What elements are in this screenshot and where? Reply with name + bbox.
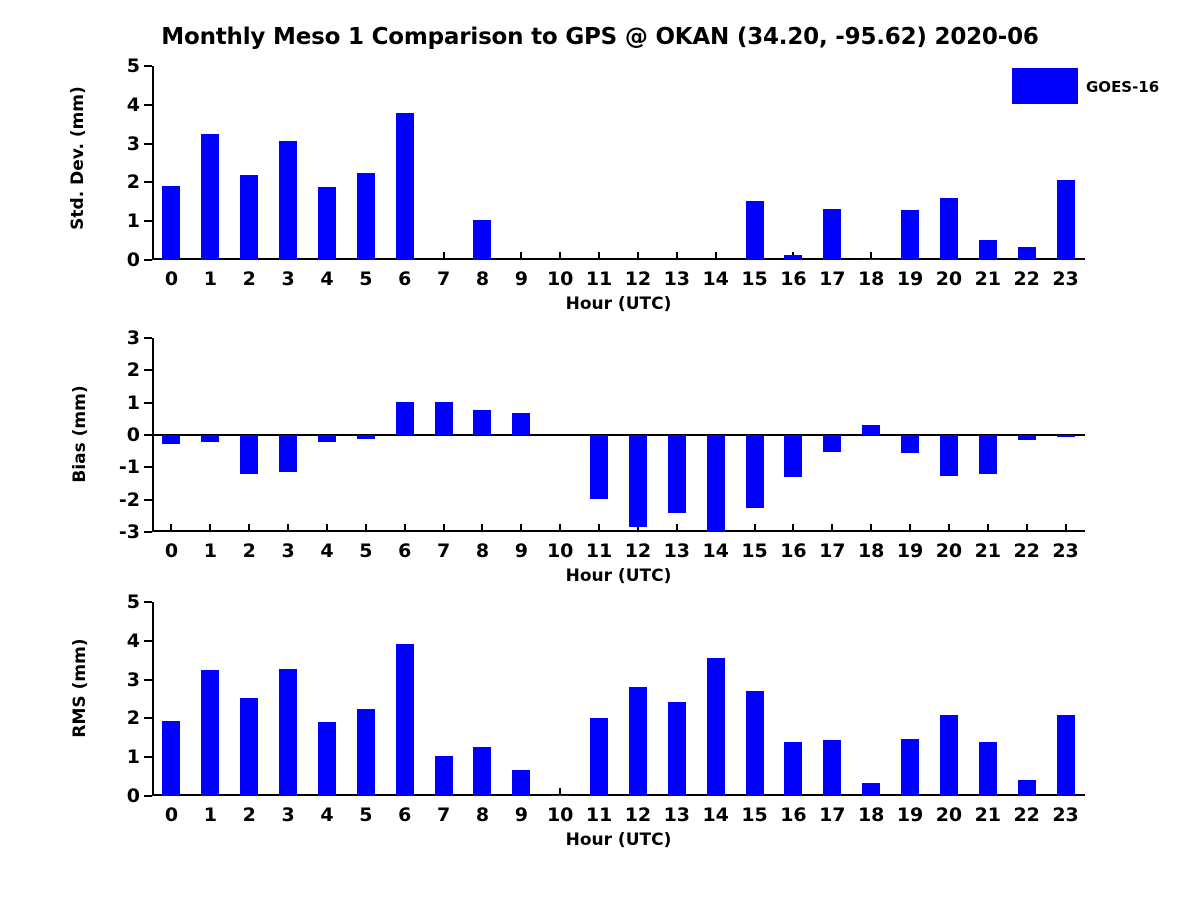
bar xyxy=(979,435,997,474)
panel2-x-tick xyxy=(870,524,872,532)
panel2-x-tick xyxy=(987,524,989,532)
panel2-x-tick-label: 23 xyxy=(1052,540,1078,562)
panel2-y-tick xyxy=(144,434,152,436)
panel2-x-axis-spine xyxy=(152,530,1085,532)
panel2-x-tick xyxy=(909,524,911,532)
panel2-x-tick-label: 8 xyxy=(476,540,489,562)
panel3-x-tick-label: 17 xyxy=(819,804,845,826)
panel2-x-tick xyxy=(404,524,406,532)
panel2-x-tick-label: 14 xyxy=(702,540,728,562)
bar xyxy=(201,670,219,796)
panel2-x-tick xyxy=(792,524,794,532)
bar xyxy=(1057,715,1075,796)
panel3-y-axis-title: RMS (mm) xyxy=(70,598,90,778)
panel2-y-tick xyxy=(144,499,152,501)
bar xyxy=(240,698,258,796)
panel2-x-tick-label: 7 xyxy=(437,540,450,562)
bar xyxy=(357,709,375,796)
bar xyxy=(512,413,530,435)
bar xyxy=(162,435,180,444)
panel2-y-tick-label: 1 xyxy=(127,392,140,414)
bar xyxy=(396,644,414,796)
bar xyxy=(746,691,764,796)
panel2-y-tick xyxy=(144,369,152,371)
panel2-y-tick-label: 3 xyxy=(127,327,140,349)
bar xyxy=(823,740,841,796)
panel3-x-tick-label: 5 xyxy=(359,804,372,826)
panel2-x-tick xyxy=(248,524,250,532)
panel3-x-tick-label: 20 xyxy=(936,804,962,826)
bar xyxy=(396,402,414,435)
panel3-x-tick-label: 11 xyxy=(586,804,612,826)
bar xyxy=(473,747,491,796)
bar xyxy=(435,756,453,796)
panel3-x-tick-label: 15 xyxy=(741,804,767,826)
panel2-x-tick-label: 6 xyxy=(398,540,411,562)
panel2-x-tick-label: 17 xyxy=(819,540,845,562)
panel2-x-tick xyxy=(559,524,561,532)
panel3-y-axis-spine xyxy=(152,602,154,796)
panel2-x-tick-label: 18 xyxy=(858,540,884,562)
panel3-x-tick-label: 14 xyxy=(702,804,728,826)
panel2-x-tick xyxy=(209,524,211,532)
bar xyxy=(1057,435,1075,437)
bar xyxy=(668,702,686,796)
bar xyxy=(1018,780,1036,796)
panel2-x-tick-label: 12 xyxy=(625,540,651,562)
panel3-y-tick xyxy=(144,756,152,758)
bar xyxy=(279,669,297,796)
panel2-x-tick-label: 15 xyxy=(741,540,767,562)
panel2-x-tick xyxy=(676,524,678,532)
bar xyxy=(629,435,647,527)
panel2-x-tick-label: 19 xyxy=(897,540,923,562)
panel3-x-tick-label: 1 xyxy=(204,804,217,826)
panel2-y-tick xyxy=(144,402,152,404)
bar xyxy=(862,425,880,435)
panel2-x-tick-label: 13 xyxy=(664,540,690,562)
bar xyxy=(201,435,219,442)
panel2-x-tick-label: 22 xyxy=(1013,540,1039,562)
panel2-x-tick xyxy=(520,524,522,532)
bar xyxy=(240,435,258,474)
bar xyxy=(279,435,297,472)
bar xyxy=(435,402,453,435)
bar xyxy=(668,435,686,513)
bar xyxy=(940,435,958,476)
panel2-x-tick xyxy=(948,524,950,532)
panel2-y-tick xyxy=(144,466,152,468)
panel3-x-tick-label: 22 xyxy=(1013,804,1039,826)
bar xyxy=(629,687,647,796)
bar xyxy=(707,435,725,532)
panel3-x-tick-label: 9 xyxy=(515,804,528,826)
panel2-y-tick-label: -3 xyxy=(119,521,140,543)
panel-rms: RMS (mm) Hour (UTC) 01234501234567891011… xyxy=(0,0,1200,310)
bar xyxy=(162,721,180,796)
panel2-x-tick xyxy=(598,524,600,532)
panel2-x-tick-label: 21 xyxy=(975,540,1001,562)
panel3-y-tick xyxy=(144,601,152,603)
panel2-x-tick-label: 20 xyxy=(936,540,962,562)
panel3-y-tick-label: 5 xyxy=(127,591,140,613)
panel3-x-tick-label: 0 xyxy=(165,804,178,826)
panel3-y-tick-label: 4 xyxy=(127,630,140,652)
panel2-x-tick-label: 3 xyxy=(281,540,294,562)
panel3-y-tick xyxy=(144,679,152,681)
panel3-y-tick xyxy=(144,717,152,719)
panel3-plot-area: Hour (UTC) 01234501234567891011121314151… xyxy=(152,602,1085,796)
bar xyxy=(901,435,919,453)
panel2-x-tick xyxy=(287,524,289,532)
panel2-x-tick-label: 1 xyxy=(204,540,217,562)
panel3-x-tick-label: 10 xyxy=(547,804,573,826)
panel2-x-tick xyxy=(443,524,445,532)
bar xyxy=(551,795,569,796)
panel2-x-tick xyxy=(170,524,172,532)
bar xyxy=(823,435,841,452)
panel2-x-tick-label: 4 xyxy=(320,540,333,562)
panel2-y-tick-label: -1 xyxy=(119,456,140,478)
bar xyxy=(473,410,491,435)
panel2-y-axis-title: Bias (mm) xyxy=(70,344,90,524)
panel2-x-tick xyxy=(365,524,367,532)
panel2-x-tick xyxy=(754,524,756,532)
panel2-x-tick-label: 9 xyxy=(515,540,528,562)
panel2-x-tick-label: 10 xyxy=(547,540,573,562)
panel3-x-tick-label: 4 xyxy=(320,804,333,826)
panel3-x-tick-label: 16 xyxy=(780,804,806,826)
bar xyxy=(590,718,608,796)
panel3-x-tick-label: 13 xyxy=(664,804,690,826)
bar xyxy=(979,742,997,796)
panel3-x-tick-label: 12 xyxy=(625,804,651,826)
bar xyxy=(901,739,919,796)
panel3-x-tick-label: 2 xyxy=(243,804,256,826)
panel2-y-tick-label: -2 xyxy=(119,489,140,511)
panel3-x-tick-label: 23 xyxy=(1052,804,1078,826)
figure-canvas: Monthly Meso 1 Comparison to GPS @ OKAN … xyxy=(0,0,1200,900)
panel3-y-tick-label: 2 xyxy=(127,707,140,729)
panel3-x-tick-label: 19 xyxy=(897,804,923,826)
panel2-x-tick xyxy=(1026,524,1028,532)
panel3-y-tick xyxy=(144,640,152,642)
panel3-x-tick-label: 3 xyxy=(281,804,294,826)
panel3-y-tick-label: 0 xyxy=(127,785,140,807)
bar xyxy=(318,435,336,442)
panel2-y-tick-label: 0 xyxy=(127,424,140,446)
panel3-x-tick-label: 6 xyxy=(398,804,411,826)
bar xyxy=(784,435,802,477)
panel2-x-tick-label: 2 xyxy=(243,540,256,562)
bar xyxy=(1018,435,1036,440)
bar xyxy=(318,722,336,796)
panel3-x-tick-label: 18 xyxy=(858,804,884,826)
panel2-x-tick xyxy=(831,524,833,532)
panel3-y-tick-label: 3 xyxy=(127,669,140,691)
panel2-y-tick-label: 2 xyxy=(127,359,140,381)
panel3-x-tick-label: 21 xyxy=(975,804,1001,826)
panel3-y-tick-label: 1 xyxy=(127,746,140,768)
bar xyxy=(746,435,764,508)
bar xyxy=(784,742,802,796)
panel2-x-tick-label: 11 xyxy=(586,540,612,562)
bar xyxy=(512,770,530,796)
panel2-y-tick xyxy=(144,337,152,339)
bar xyxy=(940,715,958,796)
panel2-x-tick xyxy=(481,524,483,532)
panel3-x-axis-title: Hour (UTC) xyxy=(152,830,1085,850)
panel3-y-tick xyxy=(144,795,152,797)
bar xyxy=(862,783,880,796)
panel2-x-axis-title: Hour (UTC) xyxy=(152,566,1085,586)
bar xyxy=(707,658,725,796)
panel2-plot-area: Hour (UTC) -3-2-101230123456789101112131… xyxy=(152,338,1085,532)
panel2-x-tick-label: 16 xyxy=(780,540,806,562)
panel3-x-tick-label: 8 xyxy=(476,804,489,826)
panel2-y-tick xyxy=(144,531,152,533)
bar xyxy=(357,435,375,439)
panel2-x-tick-label: 0 xyxy=(165,540,178,562)
panel2-x-tick xyxy=(1065,524,1067,532)
panel2-x-tick-label: 5 xyxy=(359,540,372,562)
bar xyxy=(590,435,608,499)
panel3-x-tick-label: 7 xyxy=(437,804,450,826)
panel2-x-tick xyxy=(326,524,328,532)
